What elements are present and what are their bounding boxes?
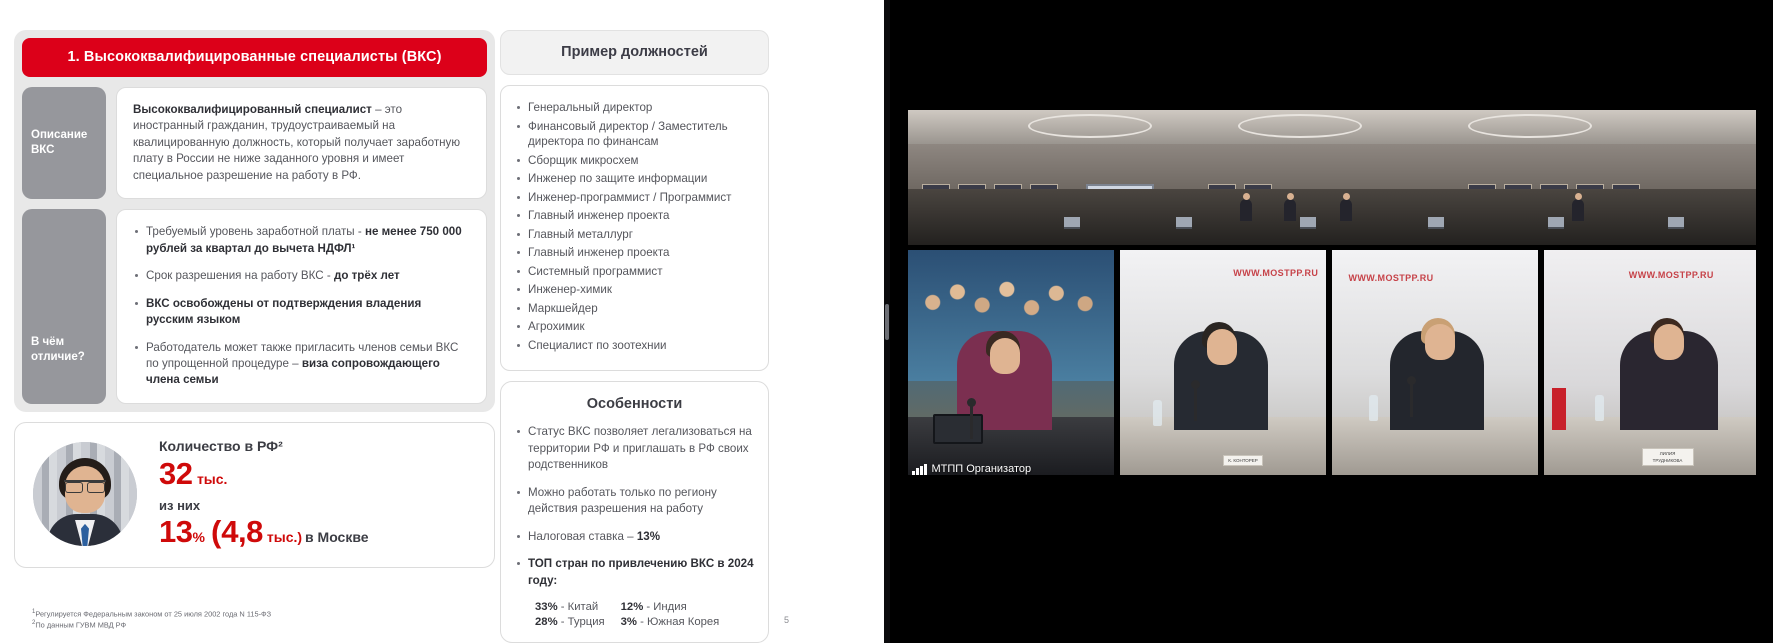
table-row: 3% - Южная Корея [621,616,720,628]
participant-head [1654,324,1684,360]
list-item: Финансовый директор / Заместитель директ… [515,119,756,150]
ceiling-light-icon [1028,114,1152,138]
country-pct: 12% [621,601,644,613]
video-tile-room[interactable] [908,110,1756,245]
statistics-text-block: Количество в РФ² 32 тыс. из них 13 % ( 4… [159,438,476,550]
features-title: Особенности [515,396,754,412]
presentation-slide: 1. Высококвалифицированные специалисты (… [0,0,884,643]
watermark-text: WWW.MOSTPP.RU [1629,270,1714,280]
room-monitor [1064,217,1080,229]
vks-description-card: Высококвалифицированный специалист – это… [116,87,487,199]
table-row: 33% - Китай [535,601,605,613]
vks-panel: 1. Высококвалифицированные специалисты (… [14,30,495,412]
vks-description-lead: Высококвалифицированный специалист [133,103,372,116]
footnotes: 1Регулируется Федеральным законом от 25 … [32,608,271,631]
list-item: Можно работать только по региону действи… [515,485,754,518]
room-monitor [1548,217,1564,229]
list-item: Главный металлург [515,227,756,243]
list-item: Агрохимик [515,319,756,335]
water-bottle [1595,395,1604,421]
list-item: Налоговая ставка – 13% [515,529,754,545]
video-grid: WWW.MOSTPP.RU К. КОНТОРЕР WWW.MOSTPP.RU … [890,0,1773,643]
list-item: Маркшейдер [515,301,756,317]
statistics-secondary-unit: тыс.) [267,529,302,545]
page-number: 5 [784,615,789,625]
presenter-name: МТПП Организатор [932,463,1032,475]
vks-panel-title: 1. Высококвалифицированные специалисты (… [22,38,487,77]
country-pct: 3% [621,616,637,628]
room-table [908,189,1756,245]
list-item: Требуемый уровень заработной платы - не … [133,224,470,257]
room-wall [908,144,1756,190]
presenter-badge: МТПП Организатор [912,463,1031,475]
microphone-icon [1194,387,1197,421]
water-bottle [1153,400,1162,426]
participant-head [1207,329,1237,365]
flag-icon [1552,388,1566,430]
video-tile-participant-2[interactable]: WWW.MOSTPP.RU К. КОНТОРЕР [1120,250,1326,475]
ceiling-light-icon [1238,114,1362,138]
country-name: - Турция [561,616,605,628]
list-item: Работодатель может также пригласить член… [133,340,470,389]
country-name: - Китай [561,601,598,613]
slide-right-column: Пример должностей Генеральный директор Ф… [500,30,769,643]
glasses-icon [64,480,106,490]
statistics-card: Количество в РФ² 32 тыс. из них 13 % ( 4… [14,422,495,568]
statistics-primary-value: 32 [159,456,192,491]
participant-head [1425,324,1455,360]
list-item: ВКС освобождены от подтверждения владени… [133,296,470,329]
microphone-icon [970,405,973,439]
list-item: Системный программист [515,264,756,280]
footnote-1-text: Регулируется Федеральным законом от 25 и… [35,609,271,618]
footnote-1: 1Регулируется Федеральным законом от 25 … [32,608,271,620]
slide-left-column: 1. Высококвалифицированные специалисты (… [14,30,495,568]
countries-table: 33% - Китай 12% - Индия 28% - Турция 3% … [535,601,719,628]
country-name: - Южная Корея [640,616,719,628]
table-row: 12% - Индия [621,601,720,613]
bullet-plain: Срок разрешения на работу ВКС - [146,269,334,282]
jobs-list: Генеральный директор Финансовый директор… [515,100,756,353]
list-item: Срок разрешения на работу ВКС - до трёх … [133,268,470,284]
statistics-primary-unit: тыс. [197,471,228,487]
bullet-bold: до трёх лет [334,269,400,282]
label-description-vks-text: Описание ВКС [31,128,87,159]
bullet-plain: Требуемый уровень заработной платы - [146,225,365,238]
vks-difference-list: Требуемый уровень заработной платы - не … [133,224,470,389]
footnote-2: 2По данным ГУВМ МВД РФ [32,619,271,631]
vks-difference-card: Требуемый уровень заработной платы - не … [116,209,487,404]
video-tile-participant-4[interactable]: WWW.MOSTPP.RU ЛИЛИЯ ТРУДНИКОВА [1544,250,1756,475]
features-card: Особенности Статус ВКС позволяет легализ… [500,381,769,643]
feature-plain: Налоговая ставка – [528,530,637,543]
statistics-secondary-row: 13 % ( 4,8 тыс.) в Москве [159,514,476,550]
list-item: Генеральный директор [515,100,756,116]
water-bottle [1369,395,1378,421]
statistics-title: Количество в РФ² [159,438,476,454]
table-row: 28% - Турция [535,616,605,628]
jobs-card: Генеральный директор Финансовый директор… [500,85,769,371]
statistics-location: в Москве [305,529,369,545]
watermark-text: WWW.MOSTPP.RU [1348,273,1433,283]
list-item: Статус ВКС позволяет легализоваться на т… [515,424,754,473]
room-monitor [1428,217,1444,229]
statistics-secondary-value: 4,8 [221,516,263,549]
feature-tax-rate: 13% [637,530,660,543]
label-difference: В чём отличие? [22,209,106,404]
room-participant [1340,199,1352,221]
statistics-subtitle: из них [159,498,476,513]
label-difference-text: В чём отличие? [31,335,85,366]
video-tile-participant-3[interactable]: WWW.MOSTPP.RU [1332,250,1538,475]
list-item: Инженер-программист / Программист [515,190,756,206]
list-item: Главный инженер проекта [515,208,756,224]
room-ceiling [908,110,1756,144]
label-description-vks: Описание ВКС [22,87,106,199]
list-item: Специалист по зоотехнии [515,338,756,354]
list-item: ТОП стран по привлечению ВКС в 2024 году… [515,556,754,589]
screen-root: 1. Высококвалифицированные специалисты (… [0,0,1773,643]
watermark-text: WWW.MOSTPP.RU [1233,268,1318,278]
grip-icon [885,304,889,340]
room-participant [1240,199,1252,221]
shared-screen-pane[interactable]: 1. Высококвалифицированные специалисты (… [0,0,884,643]
video-tile-participant-1[interactable] [908,250,1114,475]
bullet-bold: ВКС освобождены от подтверждения владени… [146,297,421,326]
list-item: Инженер по защите информации [515,171,756,187]
country-pct: 33% [535,601,558,613]
room-monitor [1668,217,1684,229]
list-item: Сборщик микросхем [515,153,756,169]
participant-head [990,338,1020,374]
list-item: Инженер-химик [515,282,756,298]
vks-description-text: Высококвалифицированный специалист – это… [133,102,470,184]
room-participant [1572,199,1584,221]
signal-bars-icon [912,464,927,475]
nameplate: ЛИЛИЯ ТРУДНИКОВА [1642,448,1694,466]
microphone-icon [1410,383,1413,417]
ceiling-light-icon [1468,114,1592,138]
statistics-paren-open: ( [211,514,221,550]
jobs-panel-title: Пример должностей [500,30,769,75]
statistics-primary-value-row: 32 тыс. [159,458,476,491]
portrait-photo [33,442,137,546]
room-monitor [1176,217,1192,229]
laptop-icon [933,414,983,444]
nameplate: К. КОНТОРЕР [1223,455,1263,466]
room-participant [1284,199,1296,221]
vks-description-row: Описание ВКС Высококвалифицированный спе… [22,87,487,199]
statistics-percent-sign: % [192,529,204,545]
features-list: Статус ВКС позволяет легализоваться на т… [515,424,754,589]
feature-top-countries-label: ТОП стран по привлечению ВКС в 2024 году… [528,557,754,586]
country-name: - Индия [646,601,686,613]
statistics-percent: 13 [159,516,192,549]
country-pct: 28% [535,616,558,628]
footnote-2-text: По данным ГУВМ МВД РФ [35,621,126,630]
vks-difference-row: В чём отличие? Требуемый уровень заработ… [22,209,487,404]
list-item: Главный инженер проекта [515,245,756,261]
room-monitor [1300,217,1316,229]
